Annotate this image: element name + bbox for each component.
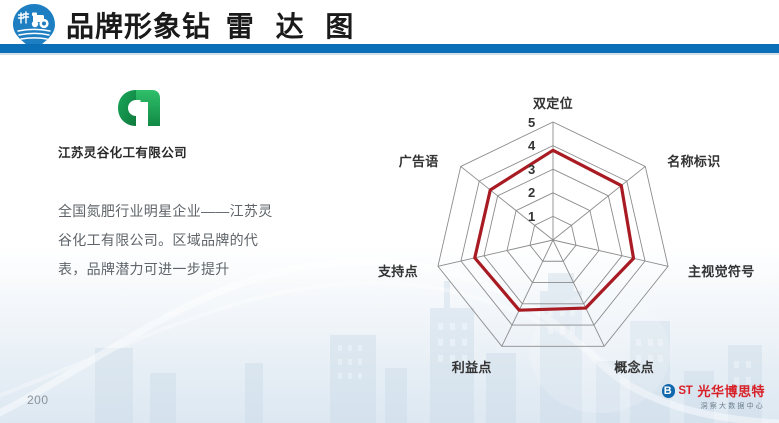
radar-axis-label-2: 主视觉符号 bbox=[688, 261, 755, 280]
radar-axis-label-5: 支持点 bbox=[378, 261, 418, 280]
footer-brand-logo: B ST 光华博思特 洞察大数据中心 bbox=[662, 381, 765, 411]
radar-spoke-4 bbox=[502, 240, 553, 346]
radar-tick-label-1: 1 bbox=[528, 209, 535, 224]
radar-tick-label-5: 5 bbox=[528, 115, 535, 130]
radar-axis-label-0: 双定位 bbox=[533, 93, 573, 112]
page-title-sub: 雷 达 图 bbox=[226, 11, 361, 42]
radar-chart: 双定位名称标识主视觉符号概念点利益点支持点广告语12345 bbox=[345, 80, 775, 380]
radar-axis-label-1: 名称标识 bbox=[667, 151, 720, 170]
footer-logo-badge: B bbox=[662, 384, 676, 398]
radar-tick-label-3: 3 bbox=[528, 162, 535, 177]
footer-logo-subtitle: 洞察大数据中心 bbox=[662, 401, 765, 411]
radar-axis-label-6: 广告语 bbox=[399, 151, 439, 170]
lg-green-logo-icon bbox=[116, 88, 162, 128]
slide-header: 品牌形象钻 雷 达 图 bbox=[0, 0, 779, 56]
slide-canvas: 品牌形象钻 雷 达 图 江苏灵谷化工有限公司 全国氮肥行业明星企业——江苏灵谷化… bbox=[0, 0, 779, 423]
page-number: 200 bbox=[27, 393, 49, 407]
page-title: 品牌形象钻 雷 达 图 bbox=[66, 5, 360, 45]
radar-grid-spokes bbox=[438, 122, 668, 346]
company-description: 全国氮肥行业明星企业——江苏灵谷化工有限公司。区域品牌的代表，品牌潜力可进一步提… bbox=[58, 197, 280, 284]
company-name: 江苏灵谷化工有限公司 bbox=[58, 142, 308, 161]
radar-axis-label-3: 概念点 bbox=[614, 357, 654, 376]
radar-axis-label-4: 利益点 bbox=[452, 357, 492, 376]
radar-series-polygon bbox=[475, 150, 634, 310]
header-divider-bar bbox=[0, 44, 779, 53]
page-title-main: 品牌形象钻 bbox=[66, 11, 211, 42]
radar-tick-label-2: 2 bbox=[528, 185, 535, 200]
footer-logo-est: ST bbox=[678, 385, 692, 397]
header-divider-shadow bbox=[0, 53, 779, 55]
radar-spoke-3 bbox=[553, 240, 604, 346]
radar-chart-svg bbox=[345, 80, 775, 380]
footer-logo-chinese: 光华博思特 bbox=[697, 381, 765, 400]
radar-tick-label-4: 4 bbox=[528, 138, 535, 153]
company-info-panel: 江苏灵谷化工有限公司 全国氮肥行业明星企业——江苏灵谷化工有限公司。区域品牌的代… bbox=[58, 88, 308, 284]
